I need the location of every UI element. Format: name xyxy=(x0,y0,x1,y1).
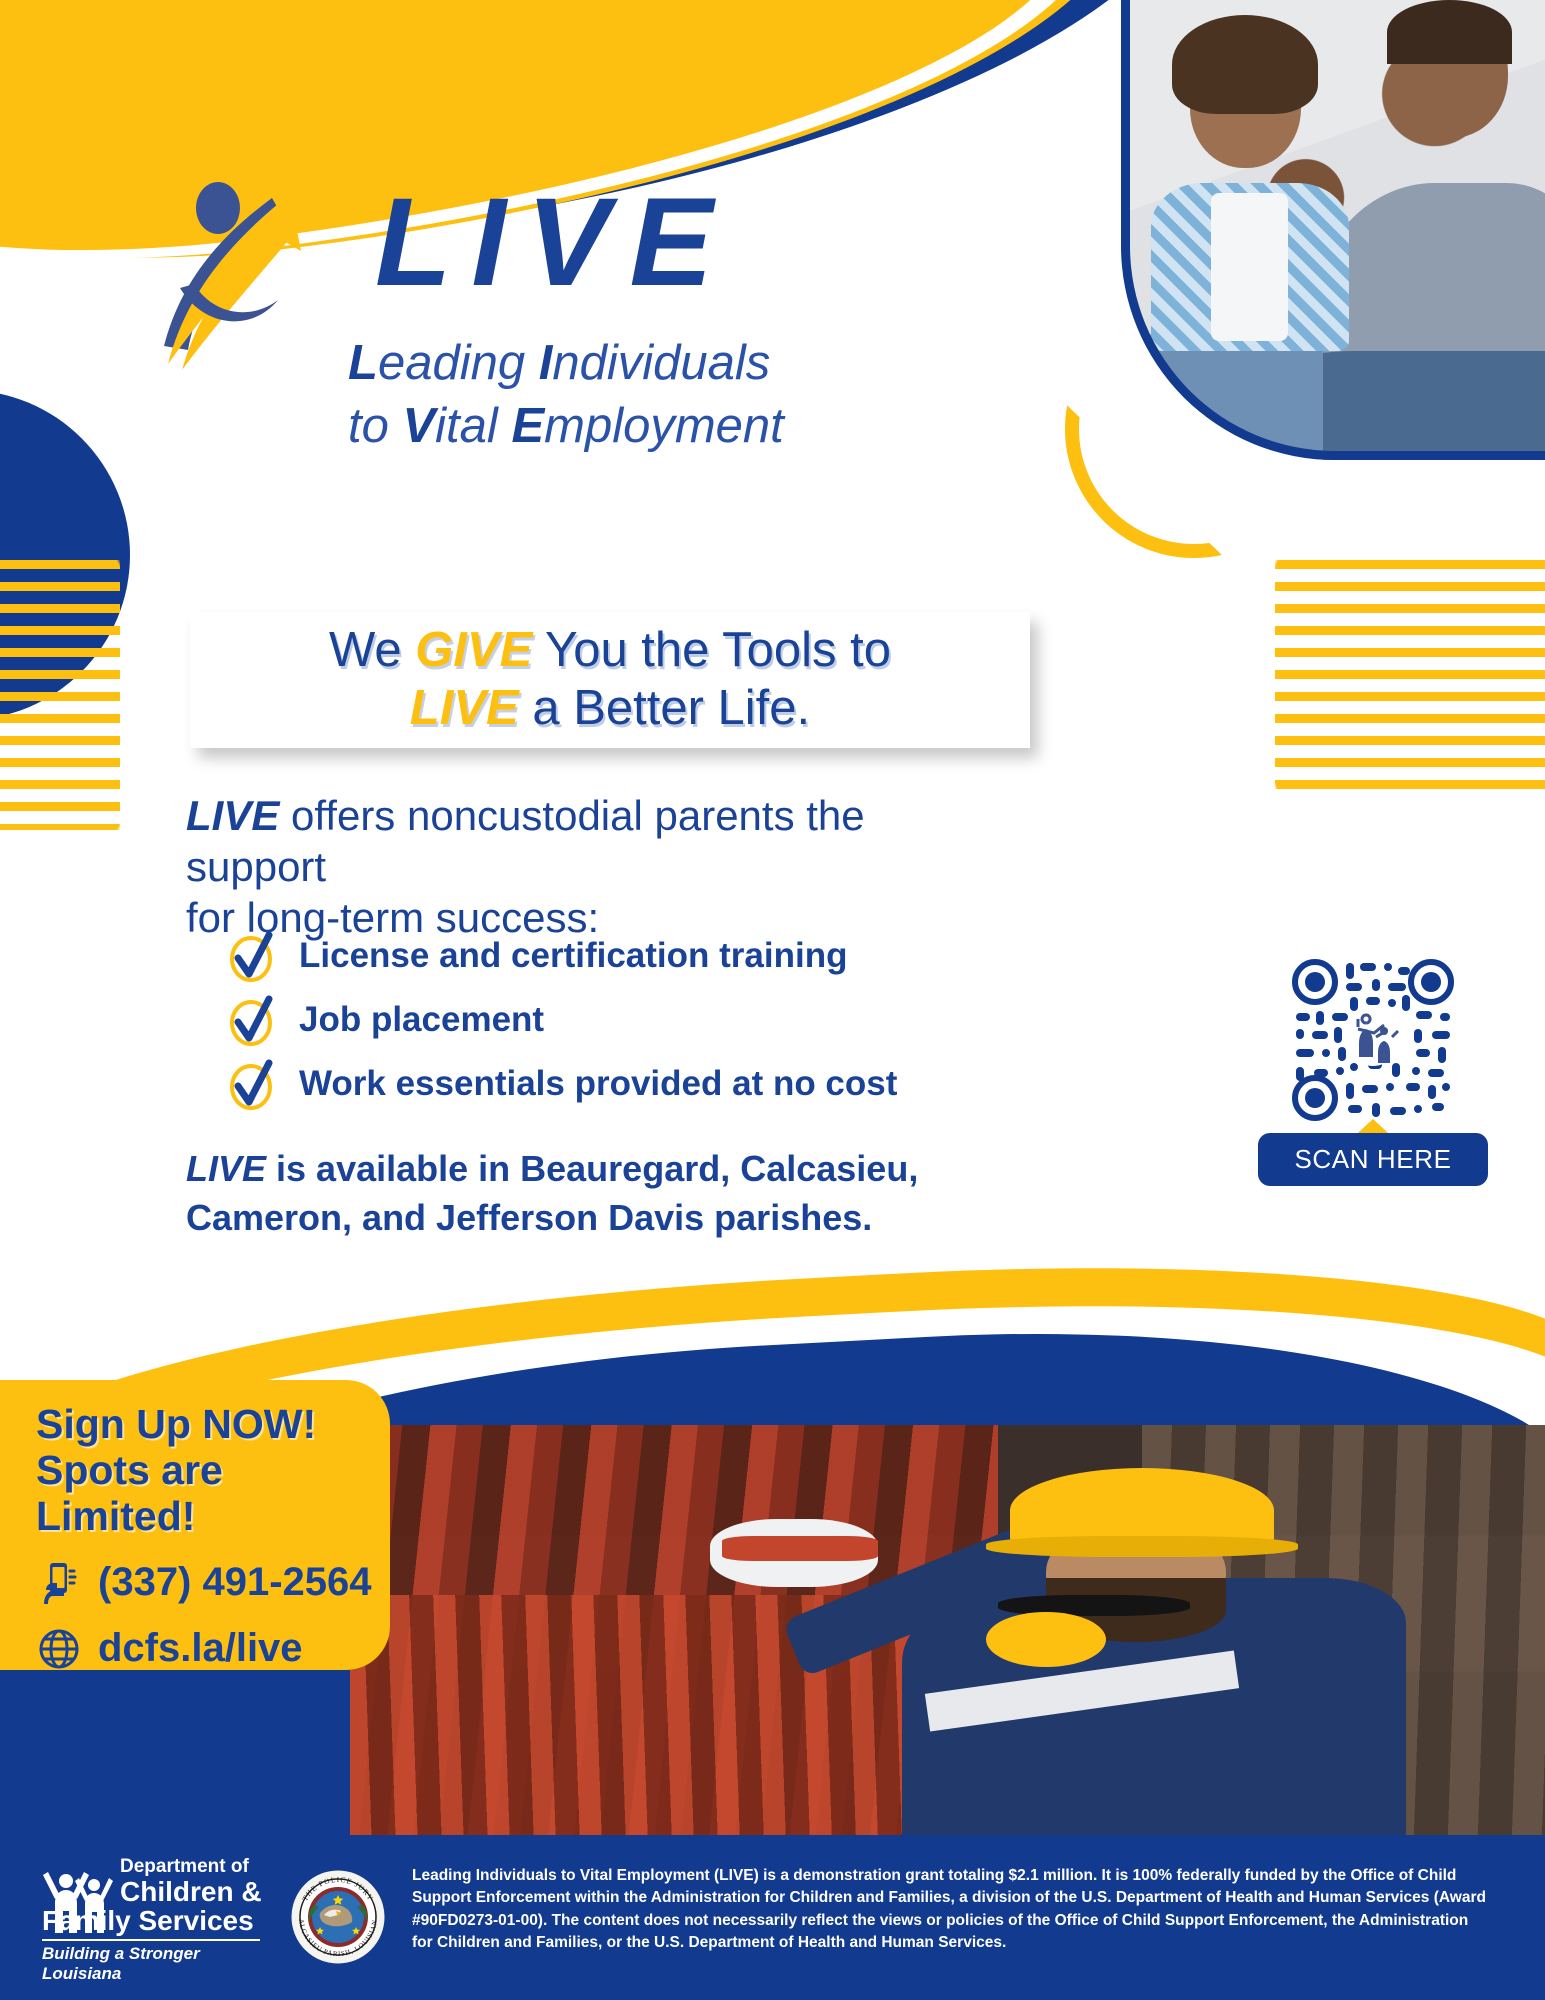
dcfs-line-2: Children & xyxy=(120,1877,270,1906)
headline-text: We GIVE You the Tools toLIVE a Better Li… xyxy=(311,612,909,748)
check-circle-icon xyxy=(225,1058,277,1110)
dcfs-divider xyxy=(42,1939,260,1941)
scan-here-button[interactable]: SCAN HERE xyxy=(1258,1133,1488,1186)
cta-website-value[interactable]: dcfs.la/live xyxy=(98,1626,303,1671)
cta-headline: Sign Up NOW! Spots are Limited! xyxy=(36,1402,390,1540)
benefit-label: Job placement xyxy=(299,1001,544,1040)
scan-here-wrap: SCAN HERE xyxy=(1258,1133,1488,1186)
live-logo: LIVE Leading Individualsto Vital Employm… xyxy=(160,140,940,450)
dcfs-tagline: Building a Stronger Louisiana xyxy=(42,1944,270,1984)
headline-banner: We GIVE You the Tools toLIVE a Better Li… xyxy=(190,612,1030,748)
benefit-label: License and certification training xyxy=(299,937,847,976)
availability-text: LIVE is available in Beauregard, Calcasi… xyxy=(186,1145,1066,1242)
list-item: Work essentials provided at no cost xyxy=(225,1058,1015,1110)
qr-code[interactable] xyxy=(1288,955,1458,1125)
left-blue-circle xyxy=(0,390,130,720)
check-circle-icon xyxy=(225,930,277,982)
phone-in-hand-icon xyxy=(36,1560,82,1606)
live-wordmark: LIVE xyxy=(375,180,733,305)
cta-phone-value[interactable]: (337) 491-2564 xyxy=(98,1560,372,1605)
worker-photo xyxy=(350,1425,1545,1850)
globe-icon xyxy=(36,1626,82,1672)
list-item: License and certification training xyxy=(225,930,1015,982)
signup-cta-box: Sign Up NOW! Spots are Limited! (337) 49… xyxy=(0,1380,390,1670)
right-stripe-pattern xyxy=(1275,560,1545,790)
cta-phone-row[interactable]: (337) 491-2564 xyxy=(36,1560,390,1606)
left-stripe-pattern xyxy=(0,560,120,830)
dcfs-line-3: Family Services xyxy=(42,1906,270,1935)
check-circle-icon xyxy=(225,994,277,1046)
cta-website-row[interactable]: dcfs.la/live xyxy=(36,1626,390,1672)
check-circle-icon xyxy=(225,1058,277,1110)
family-figures-icon xyxy=(1347,1014,1399,1066)
dcfs-line-1: Department of xyxy=(120,1857,270,1877)
footer: Department of Children & Family Services… xyxy=(0,1835,1545,2000)
qr-block: SCAN HERE xyxy=(1258,955,1488,1186)
dcfs-logo: Department of Children & Family Services… xyxy=(42,1857,267,1977)
footer-disclaimer: Leading Individuals to Vital Employment … xyxy=(412,1865,1492,1955)
benefit-label: Work essentials provided at no cost xyxy=(299,1065,897,1104)
check-circle-icon xyxy=(225,930,277,982)
live-star-figure-icon xyxy=(160,150,360,370)
benefits-list: License and certification trainingJob pl… xyxy=(225,930,1015,1122)
calcasieu-parish-police-jury-seal: THE POLICE JURY CALCASIEU PARISH, LOUISI… xyxy=(290,1869,386,1965)
live-tagline: Leading Individualsto Vital Employment xyxy=(348,332,784,457)
check-circle-icon xyxy=(225,994,277,1046)
hero-photo-ring xyxy=(1121,0,1545,460)
qr-code-icon xyxy=(1288,955,1458,1125)
poster-page: LIVE Leading Individualsto Vital Employm… xyxy=(0,0,1545,2000)
list-item: Job placement xyxy=(225,994,1015,1046)
intro-paragraph: LIVE offers noncustodial parents the sup… xyxy=(186,790,1016,944)
